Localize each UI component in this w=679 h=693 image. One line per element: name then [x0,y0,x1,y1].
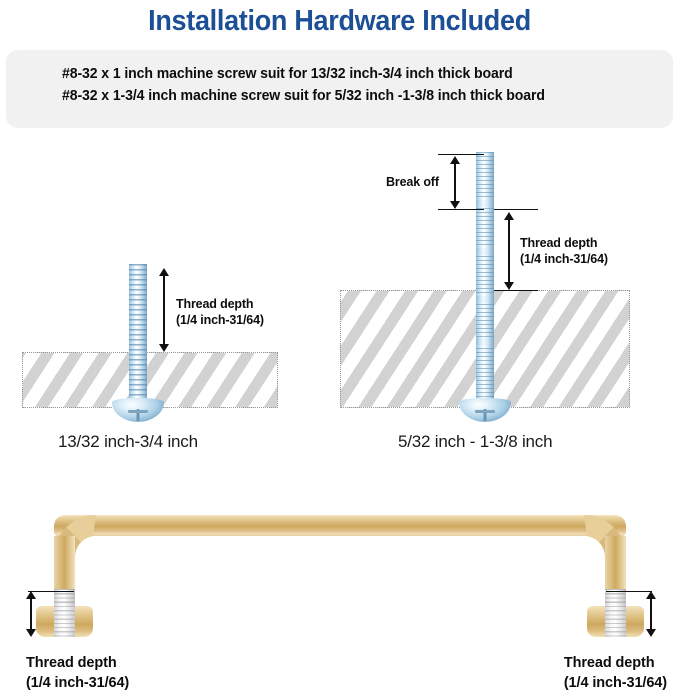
screw-head-slot-cross [128,410,149,413]
handle-leg-right [605,536,626,593]
thread-depth-label-long-line2: (1/4 inch-31/64) [520,251,608,267]
break-off-notch-1 [476,200,494,207]
break-off-label-line1: Break off [386,174,439,190]
thread-depth-tick-top-long [494,209,538,210]
page-title: Installation Hardware Included [24,0,655,42]
break-off-notch-2 [476,248,494,255]
thread-depth-tick-bottom-long [494,290,538,291]
handle-collar-thread-left [54,606,75,637]
handle-thread-label-left-line1: Thread depth [26,654,129,674]
screw-thread-texture-long [476,152,494,406]
handle-thread-arrow-bottom-right [646,629,656,637]
handle-thread-arrow-bottom-left [26,629,36,637]
handle-area: Thread depth (1/4 inch-31/64) Thread dep… [0,470,679,690]
handle-thread-label-left-line2: (1/4 inch-31/64) [26,674,129,693]
break-off-line [454,162,456,203]
screw-shaft-long [476,152,494,406]
break-off-tick-bottom [438,209,484,210]
handle-thread-label-right-line2: (1/4 inch-31/64) [564,674,667,693]
spec-line-list: #8-32 x 1 inch machine screw suit for 13… [62,66,560,104]
thread-depth-line-short [163,274,165,346]
thread-depth-label-line2: (1/4 inch-31/64) [176,312,264,328]
thread-depth-label-long-line1: Thread depth [520,235,608,251]
spec-line-2: #8-32 x 1-3/4 inch machine screw suit fo… [62,88,545,104]
thread-depth-label-line1: Thread depth [176,296,264,312]
thread-depth-line-long [508,218,510,284]
screw-short [129,264,147,406]
handle-leg-left [54,536,75,593]
thread-depth-label-long: Thread depth (1/4 inch-31/64) [520,235,608,268]
break-off-label: Break off [386,174,439,190]
diagram-area: Thread depth (1/4 inch-31/64) 13/32 inch… [0,140,679,470]
spec-line-1: #8-32 x 1 inch machine screw suit for 13… [62,66,545,82]
short-screw-caption: 13/32 inch-3/4 inch [58,432,198,452]
thread-depth-arrow-bottom-long [504,282,514,290]
screw-shaft [129,264,147,406]
handle-collar-thread-right [605,606,626,637]
handle-bar [54,515,626,536]
break-off-arrow-bottom [450,201,460,209]
thread-depth-label-short: Thread depth (1/4 inch-31/64) [176,296,264,329]
handle-thread-label-right-line1: Thread depth [564,654,667,674]
handle-thread-line-right [650,597,652,631]
handle-thread-label-left: Thread depth (1/4 inch-31/64) [26,654,129,693]
screw-head-long [459,398,511,422]
screw-head-short [112,398,164,422]
handle-thread-tick-top-right [606,591,652,592]
screw-thread-texture [129,264,147,406]
break-off-tick-top [438,154,484,155]
break-off-notch-3 [476,296,494,303]
long-screw-caption: 5/32 inch - 1-3/8 inch [398,432,552,452]
handle-thread-tick-top-left [28,591,74,592]
handle-thread-label-right: Thread depth (1/4 inch-31/64) [564,654,667,693]
break-off-notch-4 [476,338,494,345]
screw-long [476,152,494,406]
handle-thread-line-left [30,597,32,631]
screw-head-slot-cross-long [475,410,496,413]
thread-depth-arrow-bottom-short [159,344,169,352]
spec-box: #8-32 x 1 inch machine screw suit for 13… [6,50,673,128]
